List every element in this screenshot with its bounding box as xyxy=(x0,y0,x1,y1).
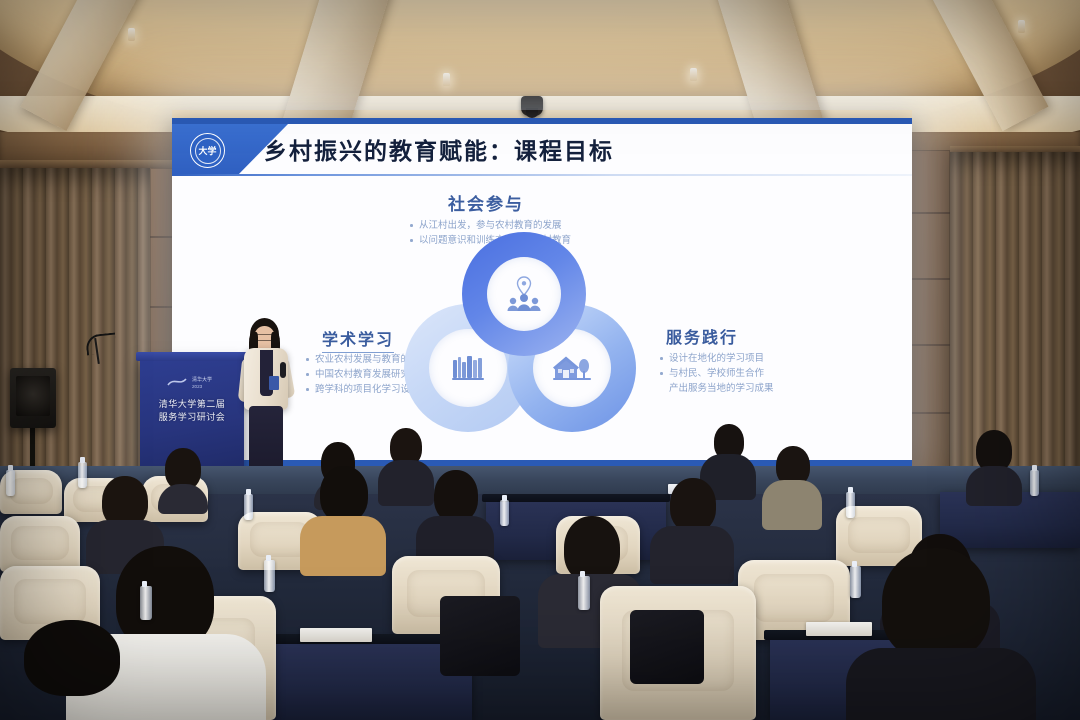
audience-head xyxy=(320,466,368,522)
audience-member xyxy=(300,466,386,570)
podium-text: 清华大学第二届 服务学习研讨会 xyxy=(148,398,236,424)
podium-line-2: 服务学习研讨会 xyxy=(148,411,236,424)
wall-panel-seam xyxy=(908,344,950,346)
university-seal-logo-text: 大学 xyxy=(195,138,221,164)
water-bottle xyxy=(846,492,855,518)
audience-head xyxy=(670,478,716,532)
svg-text:清华大学: 清华大学 xyxy=(192,376,212,383)
bullet-item: 从江村出发，参与农村教育的发展 xyxy=(408,218,571,233)
wall-panel-seam xyxy=(908,212,950,214)
handheld-microphone xyxy=(280,362,286,378)
ring-center xyxy=(487,257,561,331)
bullet-item: 设计在地化的学习项目 xyxy=(658,351,774,366)
audience-member xyxy=(158,448,208,504)
downlight-icon xyxy=(128,28,135,41)
podium-logo-icon: 清华大学 2023 xyxy=(166,374,218,390)
backpack xyxy=(440,596,520,676)
university-seal-logo: 大学 xyxy=(190,133,225,168)
section-bullets-service: 设计在地化的学习项目 与村民、学校师生合作 产出服务当地的学习成果 xyxy=(658,351,774,396)
section-heading-service: 服务践行 xyxy=(666,324,738,348)
bullet-item: 与村民、学校师生合作 xyxy=(658,366,774,381)
downlight-icon xyxy=(1018,20,1025,33)
audience-member-front xyxy=(846,548,1036,720)
audience-body xyxy=(650,526,734,584)
audience-head xyxy=(24,620,120,696)
water-bottle xyxy=(140,586,152,620)
audience-head xyxy=(434,470,478,522)
wall-panel xyxy=(908,150,950,480)
water-bottle xyxy=(500,500,509,526)
presenter-badge xyxy=(269,376,279,390)
slide-title: 乡村振兴的教育赋能：课程目标 xyxy=(264,132,614,166)
slide-title-bar: 大学 乡村振兴的教育赋能：课程目标 xyxy=(172,124,912,176)
audience-body xyxy=(966,466,1022,506)
venn-diagram xyxy=(404,232,644,442)
audience-body xyxy=(158,484,208,514)
audience-body xyxy=(300,516,386,576)
conference-photo-scene: 大学 乡村振兴的教育赋能：课程目标 社会参与 从江村出发，参与农村教育的发展 以… xyxy=(0,0,1080,720)
audience-body xyxy=(762,480,822,530)
water-bottle xyxy=(6,470,15,496)
front-table-top xyxy=(482,494,670,502)
house-tree-icon xyxy=(552,353,592,383)
presenter xyxy=(236,318,298,478)
downlight-icon xyxy=(690,68,697,81)
bullet-item-continuation: 产出服务当地的学习成果 xyxy=(658,381,774,396)
social-participation-ring xyxy=(462,232,586,356)
wall-panel-seam xyxy=(908,278,950,280)
books-icon xyxy=(451,354,485,382)
ceiling-camera-icon xyxy=(521,96,543,116)
podium-line-1: 清华大学第二届 xyxy=(148,398,236,411)
audience-member xyxy=(416,470,494,566)
people-location-icon xyxy=(504,276,544,312)
downlight-icon xyxy=(443,73,450,86)
backpack xyxy=(630,610,704,684)
audience-member xyxy=(762,446,822,524)
pa-speaker xyxy=(10,368,56,428)
water-bottle xyxy=(578,576,590,610)
audience-head xyxy=(564,516,620,582)
notebook xyxy=(300,628,372,642)
svg-text:2023: 2023 xyxy=(192,384,203,389)
audience-member-front xyxy=(0,620,150,720)
audience-member xyxy=(966,430,1022,500)
section-heading-academic: 学术学习 xyxy=(322,326,394,353)
audience-body xyxy=(846,648,1036,720)
audience-member xyxy=(650,478,734,578)
section-heading-social: 社会参与 xyxy=(448,190,524,215)
wall-panel-seam xyxy=(908,412,950,414)
water-bottle xyxy=(1030,470,1039,496)
audience-head xyxy=(882,548,990,660)
water-bottle xyxy=(244,494,253,520)
podium-top xyxy=(136,352,248,361)
